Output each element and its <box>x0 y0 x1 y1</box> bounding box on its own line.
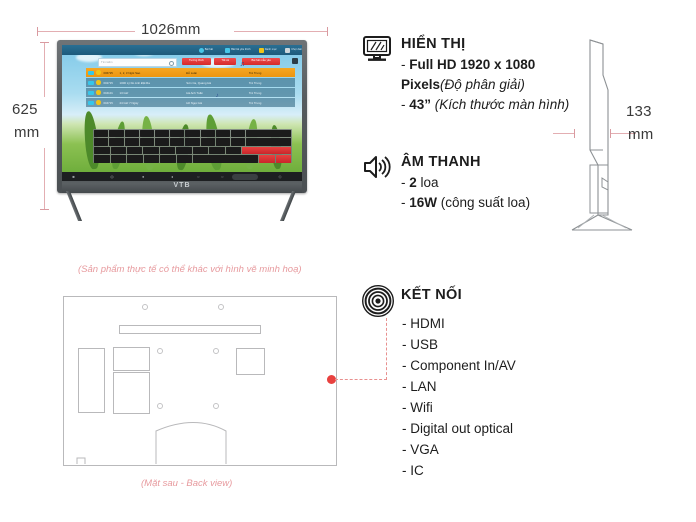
key[interactable] <box>216 138 230 145</box>
close-icon[interactable] <box>292 58 298 64</box>
song-number: 004715 <box>104 101 118 105</box>
key[interactable] <box>226 147 241 154</box>
key[interactable] <box>109 138 123 145</box>
key[interactable] <box>140 130 154 137</box>
ir-receiver <box>232 174 258 180</box>
height-dim-cap-top <box>40 42 49 43</box>
topbar-item-favorites[interactable]: Bài hát yêu thích <box>225 47 250 53</box>
key[interactable] <box>111 155 127 162</box>
height-dim-line-bottom <box>44 148 45 210</box>
song-category: Trẻ Trung <box>249 101 295 105</box>
height-dimension-value: 625 <box>12 101 38 118</box>
key[interactable] <box>94 155 110 162</box>
key[interactable] <box>125 130 139 137</box>
key[interactable] <box>201 138 215 145</box>
song-artist: Hồ Ngọc Hà <box>186 101 249 105</box>
connectivity-item: - USB <box>362 334 622 355</box>
music-note-icon: ♫ <box>240 61 245 68</box>
connectivity-item: - Wifi <box>362 397 622 418</box>
height-dimension-unit: mm <box>14 124 39 141</box>
line-plain: loa <box>417 175 439 190</box>
line-prefix: - <box>401 195 409 210</box>
line-bold: 16W <box>409 195 437 210</box>
brightness-icon[interactable]: ● <box>141 175 145 179</box>
search-input[interactable]: Tìm kiếm <box>98 58 177 67</box>
key-select[interactable] <box>242 147 291 154</box>
line-prefix: - <box>401 175 409 190</box>
spec-display-title: HIỂN THỊ <box>401 34 577 54</box>
format-badge <box>88 71 94 75</box>
spec-audio-body: ÂM THANH - 2 loa - 16W (công suất loa) <box>401 152 530 213</box>
song-category: Trẻ Trung <box>249 81 295 85</box>
key[interactable] <box>111 147 126 154</box>
key[interactable] <box>140 138 154 145</box>
globe-icon <box>199 48 204 53</box>
topbar-item-songs[interactable]: Bài hát <box>199 47 213 53</box>
line-plain: (công suất loa) <box>437 195 530 210</box>
song-number: 002715 <box>104 81 118 85</box>
song-title: 13 Giờ <box>120 91 187 95</box>
line-prefix: - <box>401 57 409 72</box>
menu-icon[interactable]: ◇ <box>278 175 282 179</box>
key[interactable] <box>160 155 176 162</box>
connectivity-item: - Digital out optical <box>362 418 622 439</box>
key-delete[interactable] <box>246 130 291 137</box>
song-artist: Đỗ Luân <box>186 71 249 75</box>
music-note-icon: ♪ <box>216 93 219 99</box>
filter-button-favorite[interactable]: Bài hát mẫu yêu <box>242 58 280 65</box>
list-icon <box>225 48 230 53</box>
key[interactable] <box>155 130 169 137</box>
filter-button-all[interactable]: Tất cả <box>214 58 236 65</box>
key[interactable] <box>127 155 143 162</box>
depth-dimension-unit: mm <box>628 126 653 143</box>
spec-audio-line-2: - 16W (công suất loa) <box>401 193 530 213</box>
speaker-icon <box>362 152 392 213</box>
width-dim-line-right <box>234 31 328 32</box>
song-number: 006725 <box>104 71 118 75</box>
spec-display-line-2: - 43” (Kích thước màn hình) <box>401 95 577 115</box>
height-dim-cap-bottom <box>40 209 49 210</box>
tv-chin: ■ ◎ ● ◂ ○ ○ ◇ VTB <box>62 172 302 193</box>
back-stand-mount-svg <box>63 296 335 464</box>
spec-display-line-1: - Full HD 1920 x 1080 Pixels(Độ phân giả… <box>401 55 577 95</box>
key[interactable] <box>160 147 175 154</box>
key[interactable] <box>127 147 142 154</box>
mic-icon <box>285 48 290 53</box>
karaoke-app: Bài hát Bài hát yêu thích Danh mục Chọn … <box>62 45 302 126</box>
key-priority[interactable] <box>276 155 292 162</box>
keyboard-row <box>94 147 291 154</box>
tv-front-view: Bài hát Bài hát yêu thích Danh mục Chọn … <box>57 40 307 193</box>
key-enter[interactable] <box>246 138 291 145</box>
power-icon[interactable]: ■ <box>72 175 76 179</box>
favorite-icon <box>96 80 101 85</box>
key[interactable] <box>125 138 139 145</box>
spec-audio-line-1: - 2 loa <box>401 173 530 193</box>
line-bold: 43” <box>409 97 431 112</box>
song-title: 1, 2, 3 Ngôi Sao <box>120 71 187 75</box>
song-list-row[interactable]: 004715 24 Giờ 7 Ngày Hồ Ngọc Hà Trẻ Trun… <box>86 98 295 107</box>
key-subtitle[interactable] <box>259 155 275 162</box>
spec-audio: ÂM THANH - 2 loa - 16W (công suất loa) <box>362 152 577 213</box>
song-list-row[interactable]: 004101 13 Giờ Hà Anh Tuấn Trẻ Trung <box>86 88 295 97</box>
tv-stand-base <box>572 215 632 230</box>
connectivity-item: - VGA <box>362 439 622 460</box>
key[interactable] <box>109 130 123 137</box>
height-dim-line-top <box>44 42 45 97</box>
width-dim-cap-left <box>37 27 38 36</box>
favorite-icon <box>96 70 101 75</box>
search-placeholder: Tìm kiếm <box>101 60 113 65</box>
spec-display: HIỂN THỊ - Full HD 1920 x 1080 Pixels(Độ… <box>362 34 577 115</box>
depth-dim-cap-right <box>610 129 611 138</box>
format-badge <box>88 101 94 105</box>
keyboard-row <box>94 138 291 145</box>
song-title: 1000 Lý Do Anh Đặt Ra <box>120 81 187 85</box>
topbar-label: Danh mục <box>265 49 277 52</box>
keyboard-row <box>94 130 291 137</box>
home-icon <box>259 48 264 53</box>
circle-icon[interactable]: ○ <box>220 175 224 179</box>
tv-control-strip: ■ ◎ ● ◂ ○ ○ ◇ <box>62 172 302 181</box>
connectivity-item: - HDMI <box>362 313 622 334</box>
depth-dim-cap-left <box>574 129 575 138</box>
key[interactable] <box>94 147 109 154</box>
key[interactable] <box>231 130 245 137</box>
tv-leg-right <box>280 191 296 221</box>
song-number: 004101 <box>104 91 118 95</box>
filter-button-label: Tương thích <box>189 60 204 63</box>
song-category: Trẻ Trung <box>249 71 295 75</box>
circle-icon[interactable]: ○ <box>196 175 200 179</box>
topbar-item-categories[interactable]: Danh mục <box>259 47 277 53</box>
key[interactable] <box>143 147 158 154</box>
front-view-caption: (Sản phẩm thực tế có thể khác với hình v… <box>78 264 302 275</box>
format-badge <box>88 81 94 85</box>
topbar-item-selected[interactable]: Chọn bài <box>285 47 301 53</box>
depth-dim-line-left <box>553 133 575 134</box>
app-topbar: Bài hát Bài hát yêu thích Danh mục Chọn … <box>62 45 302 55</box>
key[interactable] <box>216 130 230 137</box>
key[interactable] <box>231 138 245 145</box>
key[interactable] <box>94 130 108 137</box>
topbar-label: Bài hát yêu thích <box>231 49 250 52</box>
key[interactable] <box>170 138 184 145</box>
key[interactable] <box>201 130 215 137</box>
format-badge <box>88 91 94 95</box>
song-artist: Sơn Ca, Quang Hà <box>186 81 249 85</box>
volume-icon[interactable]: ◂ <box>170 175 174 179</box>
key-space[interactable] <box>193 155 258 162</box>
key[interactable] <box>193 147 208 154</box>
favorite-icon <box>96 90 101 95</box>
connectivity-item: - IC <box>362 460 622 481</box>
width-dim-cap-right <box>327 27 328 36</box>
key[interactable] <box>185 138 199 145</box>
width-dimension-label: 1026mm <box>141 21 201 38</box>
spec-display-body: HIỂN THỊ - Full HD 1920 x 1080 Pixels(Độ… <box>401 34 577 115</box>
line-italic: (Độ phân giải) <box>440 77 525 92</box>
line-prefix: - <box>401 97 409 112</box>
connectivity-list: - HDMI - USB - Component In/AV - LAN - W… <box>362 313 622 481</box>
connectivity-item: - LAN <box>362 376 622 397</box>
topbar-label: Bài hát <box>205 49 213 52</box>
song-category: Trẻ Trung <box>249 91 295 95</box>
filter-button-label: Tất cả <box>221 60 228 63</box>
tv-back-view <box>63 296 335 464</box>
line-italic: (Kích thước màn hình) <box>431 97 569 112</box>
key[interactable] <box>155 138 169 145</box>
tv-leg-left <box>66 191 82 221</box>
key[interactable] <box>209 147 224 154</box>
filter-button-compatible[interactable]: Tương thích <box>182 58 211 65</box>
favorite-icon <box>96 100 101 105</box>
search-icon <box>169 61 174 66</box>
back-view-caption: (Mặt sau - Back view) <box>141 478 232 489</box>
connectivity-item: - Component In/AV <box>362 355 622 376</box>
key[interactable] <box>94 138 108 145</box>
monitor-icon <box>362 34 392 115</box>
on-screen-keyboard[interactable] <box>93 129 292 163</box>
depth-dimension-value: 133 <box>626 103 652 120</box>
tv-brand-logo: VTB <box>62 182 302 189</box>
key[interactable] <box>144 155 160 162</box>
eye-icon[interactable]: ◎ <box>110 175 114 179</box>
filter-button-label: Bài hát mẫu yêu <box>251 60 270 63</box>
spec-connectivity-title: KẾT NỐI <box>401 285 462 305</box>
topbar-label: Chọn bài <box>291 49 301 52</box>
key[interactable] <box>177 155 193 162</box>
key[interactable] <box>176 147 191 154</box>
song-list-row[interactable]: 002715 1000 Lý Do Anh Đặt Ra Sơn Ca, Qua… <box>86 78 295 87</box>
keyboard-row <box>94 155 291 162</box>
line-bold: 2 <box>409 175 417 190</box>
width-dim-line-left <box>37 31 135 32</box>
spec-audio-title: ÂM THANH <box>401 152 530 172</box>
key[interactable] <box>185 130 199 137</box>
key[interactable] <box>170 130 184 137</box>
tv-screen: Bài hát Bài hát yêu thích Danh mục Chọn … <box>62 45 302 172</box>
song-title: 24 Giờ 7 Ngày <box>120 101 187 105</box>
song-list-row[interactable]: 006725 1, 2, 3 Ngôi Sao Đỗ Luân Trẻ Trun… <box>86 68 295 77</box>
